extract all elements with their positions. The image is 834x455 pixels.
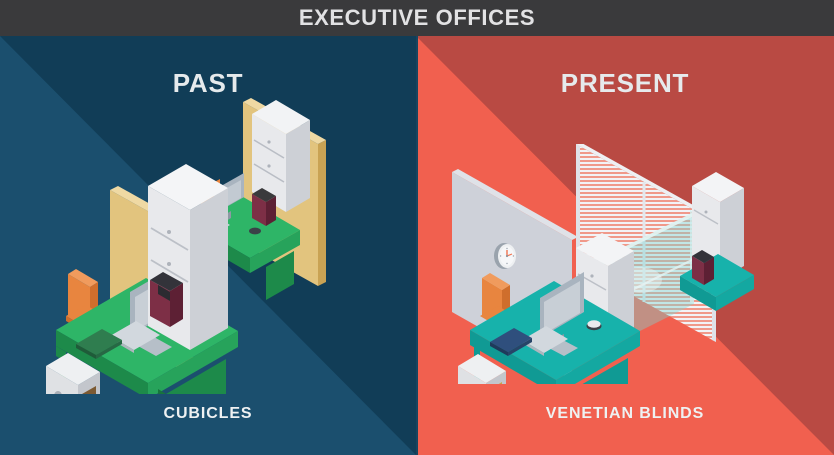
mouse-far bbox=[249, 228, 261, 235]
panel-past: PAST bbox=[0, 36, 416, 455]
illustration-cubicles bbox=[38, 94, 368, 394]
panel-present: PRESENT bbox=[416, 36, 834, 455]
infographic-canvas: EXECUTIVE OFFICES PAST bbox=[0, 0, 834, 455]
binders-far bbox=[692, 250, 714, 285]
mouse-near-body bbox=[587, 320, 600, 328]
panel-past-heading: PAST bbox=[0, 68, 416, 99]
panel-present-heading: PRESENT bbox=[416, 68, 834, 99]
panel-present-caption: VENETIAN BLINDS bbox=[416, 405, 834, 423]
page-title: EXECUTIVE OFFICES bbox=[299, 7, 535, 29]
panel-divider bbox=[416, 36, 418, 455]
illustration-venetian-blinds bbox=[444, 144, 774, 384]
panel-past-caption: CUBICLES bbox=[0, 405, 416, 423]
wall-clock bbox=[494, 243, 516, 269]
filing-cabinet-near bbox=[148, 164, 228, 350]
header-bar: EXECUTIVE OFFICES bbox=[0, 0, 834, 36]
